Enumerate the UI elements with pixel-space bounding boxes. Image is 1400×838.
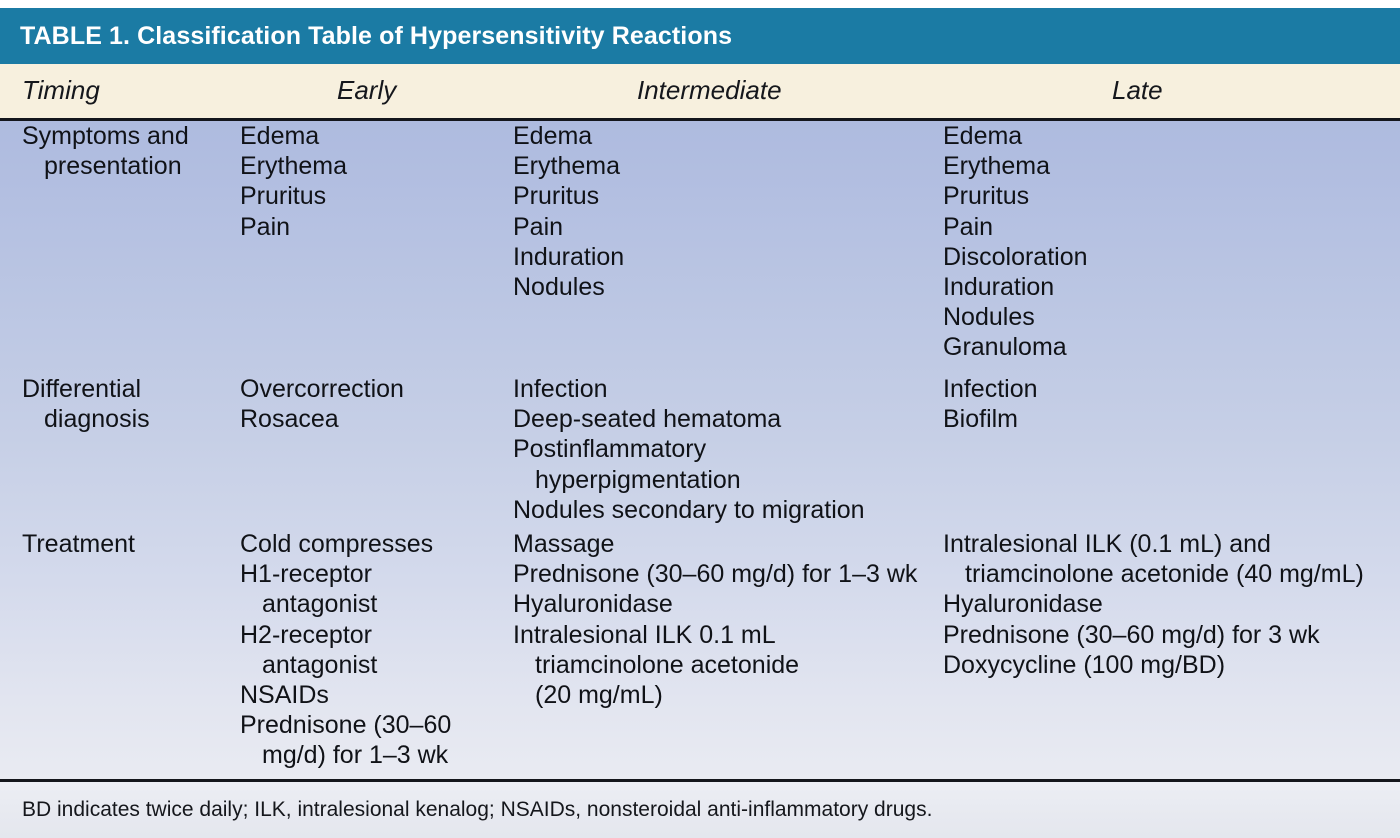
cell-diagnosis-timing: Differentialdiagnosis — [22, 374, 232, 434]
cell-diagnosis-late: InfectionBiofilm — [943, 374, 1393, 434]
cell-line: Discoloration — [943, 242, 1393, 272]
cell-line: Nodules — [943, 302, 1393, 332]
column-header-late: Late — [1112, 75, 1163, 106]
cell-line: Postinflammatory — [513, 434, 938, 464]
cell-line: Infection — [513, 374, 938, 404]
cell-line: Pruritus — [240, 181, 510, 211]
cell-line: Edema — [513, 121, 938, 151]
cell-symptoms-early: EdemaErythemaPruritusPain — [240, 121, 510, 242]
cell-line: Nodules — [513, 272, 938, 302]
table-footnote: BD indicates twice daily; ILK, intralesi… — [0, 782, 1400, 838]
cell-line: Differential — [22, 374, 232, 404]
cell-diagnosis-early: OvercorrectionRosacea — [240, 374, 510, 434]
cell-line: NSAIDs — [240, 680, 510, 710]
cell-line: Edema — [240, 121, 510, 151]
cell-line: Hyaluronidase — [943, 589, 1393, 619]
cell-line: Induration — [513, 242, 938, 272]
table-figure: TABLE 1. Classification Table of Hyperse… — [0, 0, 1400, 838]
cell-line: antagonist — [240, 650, 510, 680]
cell-treatment-late: Intralesional ILK (0.1 mL) andtriamcinol… — [943, 529, 1393, 680]
cell-line: Biofilm — [943, 404, 1393, 434]
cell-symptoms-late: EdemaErythemaPruritusPainDiscolorationIn… — [943, 121, 1393, 363]
cell-line: Pain — [943, 212, 1393, 242]
cell-line: H1-receptor — [240, 559, 510, 589]
cell-line: Prednisone (30–60 mg/d) for 1–3 wk — [513, 559, 938, 589]
cell-line: Prednisone (30–60 — [240, 710, 510, 740]
cell-line: Prednisone (30–60 mg/d) for 3 wk — [943, 620, 1393, 650]
cell-line: Infection — [943, 374, 1393, 404]
cell-symptoms-timing: Symptoms andpresentation — [22, 121, 232, 181]
column-header-intermediate: Intermediate — [637, 75, 782, 106]
cell-treatment-early: Cold compressesH1-receptorantagonistH2-r… — [240, 529, 510, 771]
cell-line: Doxycycline (100 mg/BD) — [943, 650, 1393, 680]
cell-line: Intralesional ILK (0.1 mL) and — [943, 529, 1393, 559]
column-header-timing: Timing — [22, 75, 100, 106]
cell-line: Symptoms and — [22, 121, 232, 151]
cell-treatment-intermediate: MassagePrednisone (30–60 mg/d) for 1–3 w… — [513, 529, 938, 710]
cell-line: mg/d) for 1–3 wk — [240, 740, 510, 770]
page-title: TABLE 1. Classification Table of Hyperse… — [0, 22, 732, 51]
cell-line: H2-receptor — [240, 620, 510, 650]
table-body: Symptoms andpresentation EdemaErythemaPr… — [0, 121, 1400, 782]
cell-line: Pruritus — [513, 181, 938, 211]
cell-line: Erythema — [513, 151, 938, 181]
cell-line: Erythema — [240, 151, 510, 181]
cell-line: Deep-seated hematoma — [513, 404, 938, 434]
footnote-text: BD indicates twice daily; ILK, intralesi… — [0, 798, 932, 822]
cell-line: Nodules secondary to migration — [513, 495, 938, 525]
cell-line: Pain — [513, 212, 938, 242]
cell-line: Intralesional ILK 0.1 mL — [513, 620, 938, 650]
cell-line: Cold compresses — [240, 529, 510, 559]
cell-line: Hyaluronidase — [513, 589, 938, 619]
cell-line: Edema — [943, 121, 1393, 151]
cell-line: Erythema — [943, 151, 1393, 181]
cell-line: (20 mg/mL) — [513, 680, 938, 710]
cell-line: Overcorrection — [240, 374, 510, 404]
cell-line: Granuloma — [943, 332, 1393, 362]
cell-line: Rosacea — [240, 404, 510, 434]
cell-line: triamcinolone acetonide (40 mg/mL) — [943, 559, 1393, 589]
cell-line: Massage — [513, 529, 938, 559]
cell-line: diagnosis — [22, 404, 232, 434]
cell-line: Induration — [943, 272, 1393, 302]
cell-line: hyperpigmentation — [513, 465, 938, 495]
cell-treatment-timing: Treatment — [22, 529, 232, 559]
cell-line: Pain — [240, 212, 510, 242]
cell-symptoms-intermediate: EdemaErythemaPruritusPainIndurationNodul… — [513, 121, 938, 302]
cell-line: antagonist — [240, 589, 510, 619]
column-header-early: Early — [337, 75, 396, 106]
cell-diagnosis-intermediate: InfectionDeep-seated hematomaPostinflamm… — [513, 374, 938, 525]
cell-line: Treatment — [22, 529, 232, 559]
cell-line: presentation — [22, 151, 232, 181]
column-header-row: Timing Early Intermediate Late — [0, 64, 1400, 121]
table-title-bar: TABLE 1. Classification Table of Hyperse… — [0, 8, 1400, 64]
cell-line: Pruritus — [943, 181, 1393, 211]
cell-line: triamcinolone acetonide — [513, 650, 938, 680]
